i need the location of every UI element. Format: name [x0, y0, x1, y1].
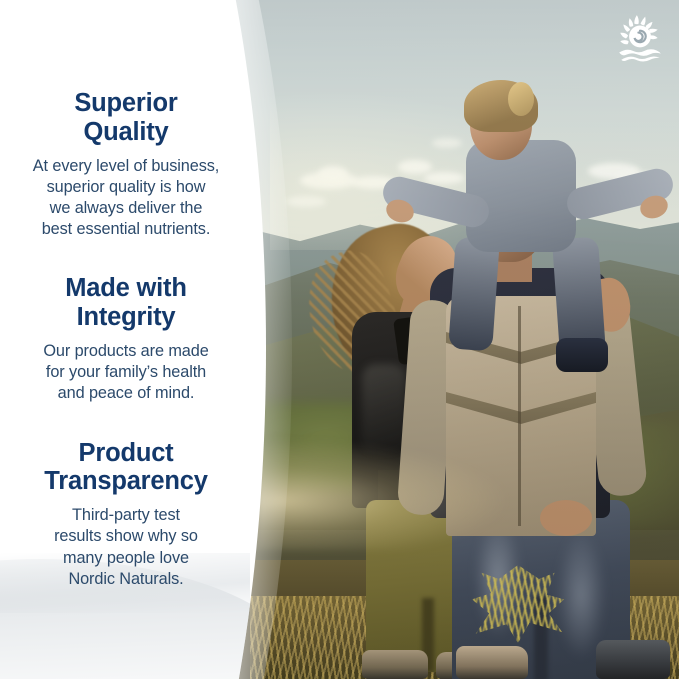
sun-waves-logo-icon: [613, 12, 667, 64]
heading-made-with-integrity: Made with Integrity: [12, 274, 240, 332]
value-proposition-list: Superior Quality At every level of busin…: [0, 0, 252, 679]
heading-superior-quality: Superior Quality: [12, 89, 240, 147]
body-superior-quality: At every level of business, superior qua…: [12, 156, 240, 241]
sun-flare: [255, 440, 505, 550]
vest-chevron: [446, 392, 596, 424]
mother-boot-left: [362, 650, 428, 679]
child-sweater: [466, 140, 576, 252]
child-shoe: [556, 338, 608, 372]
value-block-superior-quality: Superior Quality At every level of busin…: [12, 89, 240, 240]
vest-zipper: [518, 306, 521, 526]
denim-highlight: [556, 530, 606, 660]
child-leg-left: [448, 237, 500, 352]
father-boot-right: [596, 640, 670, 679]
child-hair-bun: [508, 82, 534, 116]
heading-product-transparency: Product Transparency: [12, 439, 240, 497]
value-block-product-transparency: Product Transparency Third-party test re…: [12, 439, 240, 590]
value-block-made-with-integrity: Made with Integrity Our products are mad…: [12, 274, 240, 404]
body-product-transparency: Third-party test results show why so man…: [12, 505, 240, 590]
father-boot-left: [456, 646, 528, 679]
promotional-banner: Superior Quality At every level of busin…: [0, 0, 679, 679]
father-hand-lower: [540, 500, 592, 536]
body-made-with-integrity: Our products are made for your family’s …: [12, 341, 240, 405]
